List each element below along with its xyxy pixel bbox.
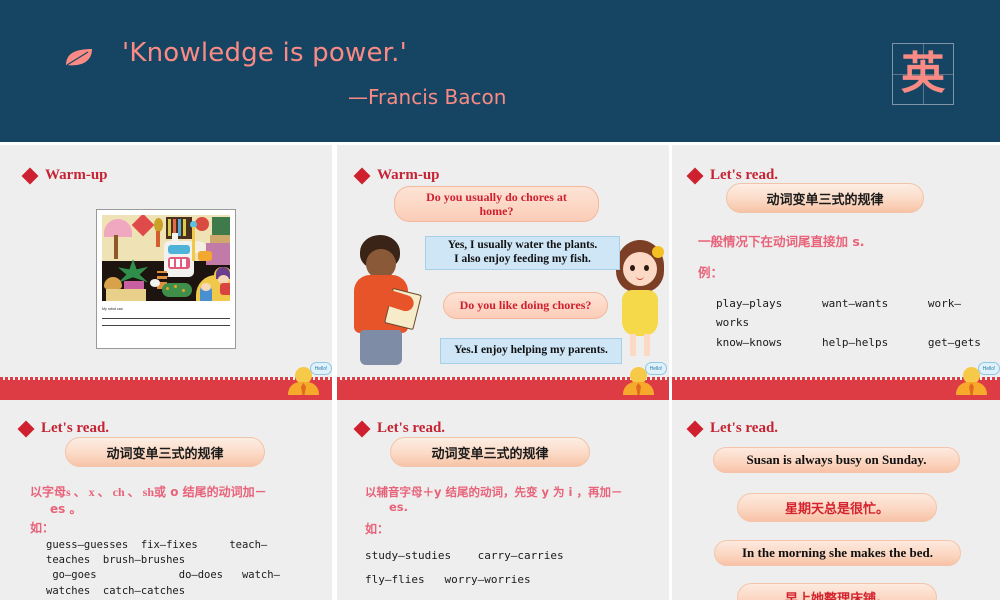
diamond-bullet-icon (687, 420, 704, 437)
quote-author: —Francis Bacon (348, 85, 506, 109)
bubble-a1-line2: I also enjoy feeding my fish. (454, 253, 591, 267)
bubble-q1-line2: home? (480, 204, 514, 218)
rule2-part2: 或 o 结尾的动词加－ (154, 485, 267, 499)
dialogue-bubble-question-1: Do you usually do chores at home? (394, 186, 599, 222)
rule-text-2: 以字母s 、 x 、 ch 、 sh或 o 结尾的动词加－ es 。 (30, 484, 325, 519)
dialogue-bubble-question-2: Do you like doing chores? (443, 292, 608, 319)
verb-row: play—plays want—wants work— (716, 294, 981, 313)
panel2-heading-label: Warm-up (377, 167, 440, 184)
rule2-part1: 以字母 (30, 485, 66, 499)
example-label-1: 例： (698, 262, 723, 281)
diamond-bullet-icon (18, 420, 35, 437)
bubble-a1-line1: Yes, I usually water the plants. (448, 239, 598, 253)
writing-line[interactable] (102, 320, 230, 326)
panel6-heading-label: Let's read. (710, 420, 778, 437)
sentence-pill-en-1: Susan is always busy on Sunday. (713, 447, 960, 473)
logo-glyph: 英 (893, 44, 953, 104)
mascot-avatar: Hello! (285, 362, 329, 396)
rule-text-1: 一般情况下在动词尾直接加 s. (698, 233, 865, 251)
panel4-heading-label: Let's read. (41, 420, 109, 437)
rule2-letters: s 、 x 、 ch 、 sh (66, 485, 154, 499)
panel5-heading-label: Let's read. (377, 420, 445, 437)
boy-character-illustration (352, 235, 414, 365)
mascot-avatar: Hello! (620, 362, 664, 396)
panel2-heading: Warm-up (356, 167, 440, 184)
diamond-bullet-icon (687, 167, 704, 184)
rule-title-pill-2: 动词变单三式的规律 (65, 437, 265, 467)
verb-row: teaches brush—brushes (46, 553, 280, 568)
worksheet-card[interactable]: My robot can (96, 209, 236, 349)
leaf-icon (64, 47, 94, 69)
verb-row: know—knows help—helps get—gets (716, 333, 981, 352)
mascot-speech-bubble: Hello! (645, 362, 667, 375)
panel1-heading-label: Warm-up (45, 167, 108, 184)
childrens-drawing (102, 215, 230, 301)
panel1-heading: Warm-up (24, 167, 108, 184)
diamond-bullet-icon (354, 420, 371, 437)
rule-text-3: 以辅音字母＋y 结尾的动词，先变 y 为 i ，再加－ es. (365, 484, 661, 515)
writing-line[interactable] (102, 313, 230, 319)
mascot-speech-bubble: Hello! (310, 362, 332, 375)
rule-title-pill-3: 动词变单三式的规律 (390, 437, 590, 467)
diamond-bullet-icon (22, 167, 39, 184)
panel3-heading: Let's read. (689, 167, 778, 184)
sentence-pill-en-2: In the morning she makes the bed. (714, 540, 961, 566)
sentence-pill-cn-2: 早上她整理床铺。 (737, 583, 937, 600)
verb-row: works (716, 313, 981, 332)
diamond-bullet-icon (354, 167, 371, 184)
rule-title-pill-1: 动词变单三式的规律 (726, 183, 924, 213)
verb-list-1: play—plays want—wants work— works know—k… (716, 294, 981, 352)
quote-text: 'Knowledge is power.' (122, 38, 407, 68)
panel4-heading: Let's read. (20, 420, 109, 437)
rule2-part3: es 。 (30, 501, 325, 518)
panel6-heading: Let's read. (689, 420, 778, 437)
dialogue-bubble-answer-2: Yes.I enjoy helping my parents. (440, 338, 622, 364)
example-label-3: 如： (365, 520, 389, 537)
verb-row: fly—flies worry—worries (365, 568, 564, 592)
sentence-pill-cn-1: 星期天总是很忙。 (737, 493, 937, 522)
rule3-line2: es. (365, 499, 661, 516)
panel5-heading: Let's read. (356, 420, 445, 437)
example-label-2: 如： (30, 519, 54, 536)
verb-row: watches catch—catches (46, 584, 280, 599)
verb-list-2: guess—guesses fix—fixes teach— teaches b… (46, 538, 280, 599)
verb-row: guess—guesses fix—fixes teach— (46, 538, 280, 553)
rule3-line1: 以辅音字母＋y 结尾的动词，先变 y 为 i ，再加－ (365, 484, 661, 501)
worksheet-caption: My robot can (102, 308, 230, 312)
title-banner: 'Knowledge is power.' —Francis Bacon 英 (0, 0, 1000, 142)
verb-list-3: study—studies carry—carries fly—flies wo… (365, 544, 564, 591)
bubble-q1-line1: Do you usually do chores at (426, 190, 567, 204)
mascot-avatar: Hello! (953, 362, 997, 396)
verb-row: study—studies carry—carries (365, 544, 564, 568)
subject-logo: 英 (892, 43, 954, 105)
dialogue-bubble-answer-1: Yes, I usually water the plants. I also … (425, 236, 620, 270)
verb-row: go—goes do—does watch— (46, 568, 280, 583)
panel3-heading-label: Let's read. (710, 167, 778, 184)
slide-contact-sheet: 'Knowledge is power.' —Francis Bacon 英 W… (0, 0, 1000, 600)
mascot-speech-bubble: Hello! (978, 362, 1000, 375)
